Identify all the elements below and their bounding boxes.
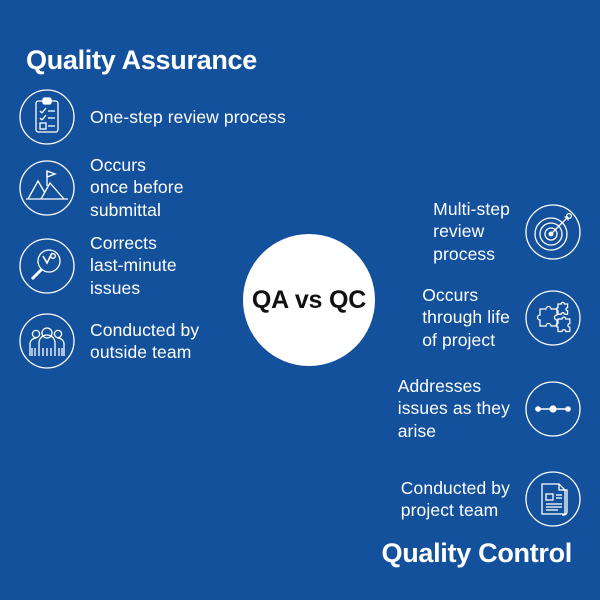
quality-assurance-title: Quality Assurance <box>26 45 257 76</box>
qc-item-label: Multi-step review process <box>433 198 510 265</box>
qa-item-corrects-last-minute-issues: Corrects last-minute issues <box>18 232 177 299</box>
mountain-flag-icon <box>18 159 76 217</box>
center-badge: QA vs QC <box>243 234 375 366</box>
qc-item-label: Occurs through life of project <box>422 284 510 351</box>
qa-item-label: Corrects last-minute issues <box>90 232 177 299</box>
puzzle-pieces-icon <box>524 289 582 347</box>
clipboard-checklist-icon <box>18 88 76 146</box>
qc-item-conducted-by-project-team: Conducted by project team <box>401 470 582 528</box>
target-dart-icon <box>524 203 582 261</box>
qc-item-multi-step-review: Multi-step review process <box>433 198 582 265</box>
center-badge-label: QA vs QC <box>252 286 366 315</box>
timeline-milestones-icon <box>524 380 582 438</box>
qa-item-label: One-step review process <box>90 106 286 128</box>
group-people-icon <box>18 312 76 370</box>
qa-item-conducted-by-outside-team: Conducted by outside team <box>18 312 199 370</box>
qc-item-label: Addresses issues as they arise <box>398 375 510 442</box>
qa-item-occurs-once-before-submittal: Occurs once before submittal <box>18 154 184 221</box>
document-report-icon <box>524 470 582 528</box>
qc-item-label: Conducted by project team <box>401 477 510 522</box>
qa-vs-qc-infographic: Quality Assurance Quality Control One-st… <box>0 0 600 600</box>
qa-item-one-step-review: One-step review process <box>18 88 286 146</box>
qa-item-label: Occurs once before submittal <box>90 154 184 221</box>
qc-item-occurs-through-life-of-project: Occurs through life of project <box>422 284 582 351</box>
qc-item-addresses-issues-as-they-arise: Addresses issues as they arise <box>398 375 582 442</box>
quality-control-title: Quality Control <box>382 538 573 569</box>
qa-item-label: Conducted by outside team <box>90 319 199 364</box>
magnifier-check-icon <box>18 237 76 295</box>
